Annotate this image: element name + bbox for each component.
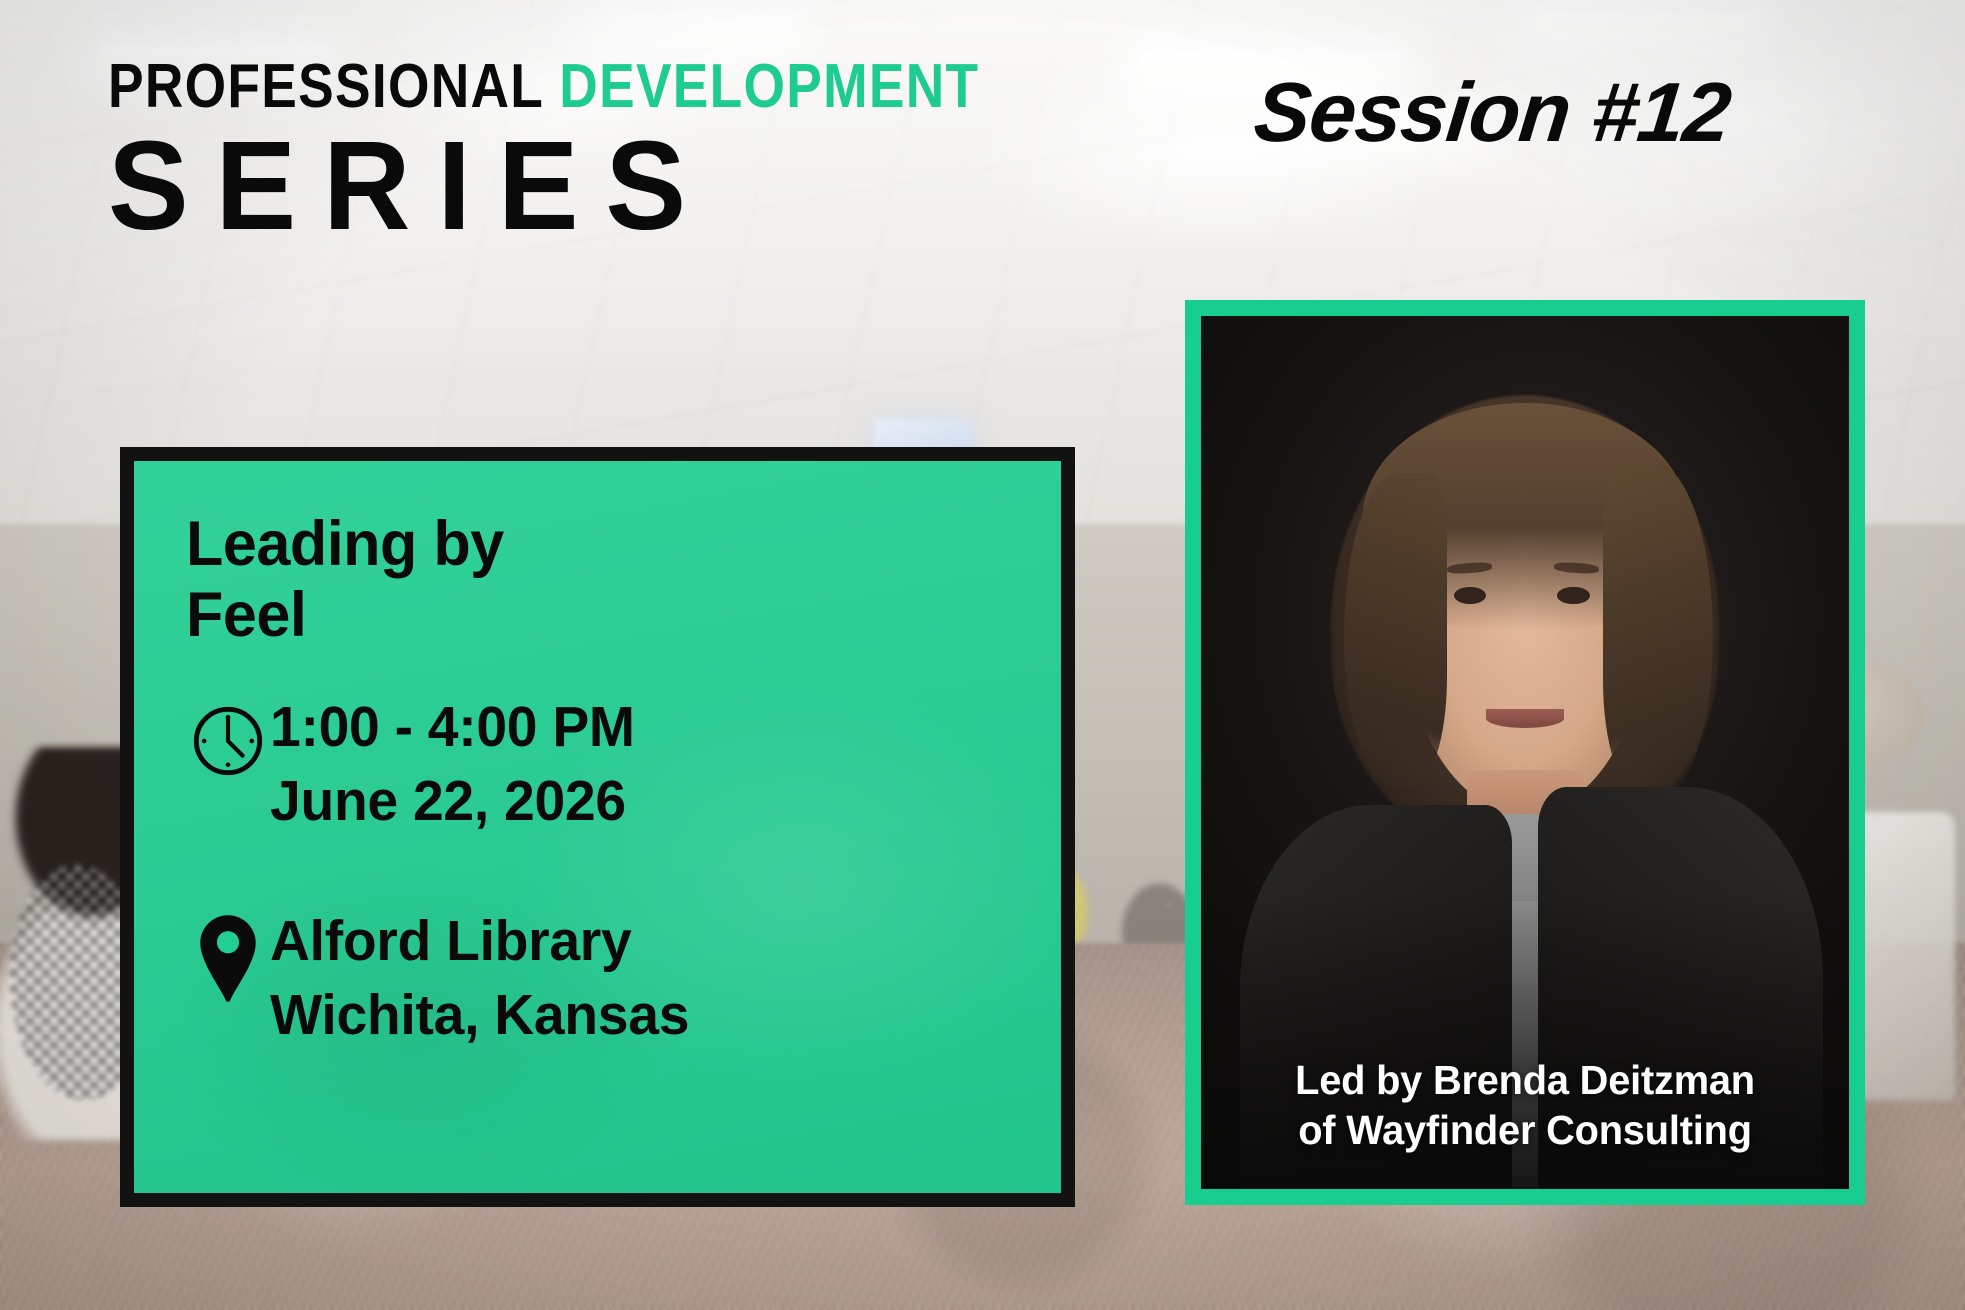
promotional-flyer: PROFESSIONAL DEVELOPMENT SERIES Session …	[0, 0, 1965, 1310]
venue-and-city-text: Alford Library Wichita, Kansas	[270, 904, 689, 1052]
event-details-card: Leading by Feel 1:	[120, 447, 1075, 1207]
time-and-date-text: 1:00 - 4:00 PM June 22, 2026	[270, 690, 635, 838]
headline-series: SERIES	[108, 123, 1081, 249]
time-detail-row: 1:00 - 4:00 PM June 22, 2026	[186, 690, 1061, 838]
location-detail-row: Alford Library Wichita, Kansas	[186, 904, 1061, 1052]
session-title: Leading by Feel	[186, 509, 1035, 650]
speaker-photo: Led by Brenda Deitzman of Wayfinder Cons…	[1201, 316, 1849, 1189]
headline-professional: PROFESSIONAL	[108, 52, 559, 121]
portrait-eye	[1557, 587, 1589, 604]
portrait-eye	[1454, 587, 1486, 604]
ceiling-light	[587, 17, 792, 39]
map-pin-icon	[186, 904, 270, 1006]
portrait-mouth	[1486, 709, 1564, 728]
portrait-hair-left	[1344, 473, 1448, 787]
clock-icon	[186, 690, 270, 780]
session-number-badge: Session #12	[1251, 70, 1734, 154]
ceiling-light	[1530, 12, 1755, 34]
page-title: PROFESSIONAL DEVELOPMENT SERIES	[108, 58, 1121, 249]
headline-development: DEVELOPMENT	[559, 52, 979, 121]
speaker-caption: Led by Brenda Deitzman of Wayfinder Cons…	[1211, 1055, 1840, 1155]
headline-line-one: PROFESSIONAL DEVELOPMENT	[108, 58, 979, 117]
portrait-hair-right	[1603, 464, 1713, 796]
event-details-content: Leading by Feel 1:	[134, 461, 1061, 1052]
event-details-card-inner: Leading by Feel 1:	[134, 461, 1061, 1193]
speaker-photo-panel: Led by Brenda Deitzman of Wayfinder Cons…	[1185, 300, 1865, 1205]
